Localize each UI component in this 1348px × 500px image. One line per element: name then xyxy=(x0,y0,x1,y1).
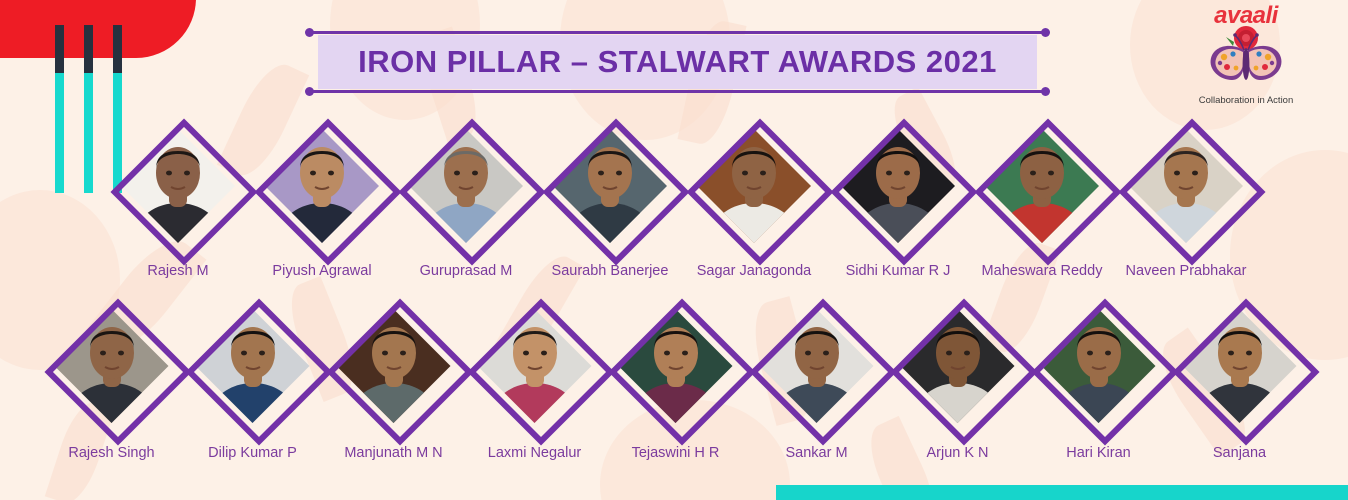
awardee-avatar xyxy=(1175,301,1305,431)
diamond-frame xyxy=(1031,298,1178,445)
awardee-card: Sidhi Kumar R J xyxy=(826,121,970,279)
logo-wordmark: avaali xyxy=(1176,4,1316,28)
awards-poster: IRON PILLAR – STALWART AWARDS 2021 avaal… xyxy=(0,0,1348,500)
awardee-avatar xyxy=(893,301,1023,431)
awardee-avatar xyxy=(611,301,741,431)
awardee-avatar xyxy=(113,121,243,251)
diamond-frame xyxy=(110,118,257,265)
awardee-avatar xyxy=(977,121,1107,251)
awardee-card: Naveen Prabhakar xyxy=(1114,121,1258,279)
awardee-name: Rajesh Singh xyxy=(68,445,154,461)
bottom-accent-bar xyxy=(776,485,1348,500)
awardee-card: Maheswara Reddy xyxy=(970,121,1114,279)
awardee-avatar xyxy=(1121,121,1251,251)
awardee-card: Piyush Agrawal xyxy=(250,121,394,279)
awardee-avatar xyxy=(47,301,177,431)
awardee-card: Rajesh Singh xyxy=(41,301,182,461)
butterfly-rose-logo-icon xyxy=(1200,24,1292,94)
awardee-card: Rajesh M xyxy=(106,121,250,279)
diamond-frame xyxy=(326,298,473,445)
awardee-card: Tejaswini H R xyxy=(605,301,746,461)
diamond-frame xyxy=(185,298,332,445)
awardee-name: Tejaswini H R xyxy=(632,445,720,461)
diamond-frame xyxy=(608,298,755,445)
awardee-name: Guruprasad M xyxy=(420,263,513,279)
awardee-card: Sanjana xyxy=(1169,301,1310,461)
awardee-name: Dilip Kumar P xyxy=(208,445,297,461)
awardee-card: Manjunath M N xyxy=(323,301,464,461)
awardee-card: Guruprasad M xyxy=(394,121,538,279)
awardee-name: Rajesh M xyxy=(147,263,208,279)
awardee-avatar xyxy=(188,301,318,431)
awardee-name: Sidhi Kumar R J xyxy=(846,263,951,279)
red-corner-shape xyxy=(0,0,196,58)
awardee-card: Saurabh Banerjee xyxy=(538,121,682,279)
awardee-avatar xyxy=(1034,301,1164,431)
awardee-card: Hari Kiran xyxy=(1028,301,1169,461)
awardee-card: Sagar Janagonda xyxy=(682,121,826,279)
accent-bar-dark xyxy=(84,25,93,73)
diamond-frame xyxy=(686,118,833,265)
awardee-name: Laxmi Negalur xyxy=(488,445,582,461)
diamond-frame xyxy=(749,298,896,445)
diamond-frame xyxy=(542,118,689,265)
awardee-avatar xyxy=(257,121,387,251)
accent-bar-cyan xyxy=(84,73,93,193)
awardee-name: Naveen Prabhakar xyxy=(1126,263,1247,279)
accent-bar-dark xyxy=(113,25,122,73)
awardee-name: Saurabh Banerjee xyxy=(552,263,669,279)
page-title: IRON PILLAR – STALWART AWARDS 2021 xyxy=(305,31,1050,93)
company-logo: avaali xyxy=(1176,4,1316,122)
awardee-name: Hari Kiran xyxy=(1066,445,1130,461)
logo-tagline: Collaboration in Action xyxy=(1176,95,1316,106)
diamond-frame xyxy=(398,118,545,265)
awardee-name: Sagar Janagonda xyxy=(697,263,812,279)
awardee-name: Sankar M xyxy=(785,445,847,461)
awardee-avatar xyxy=(470,301,600,431)
title-banner: IRON PILLAR – STALWART AWARDS 2021 xyxy=(305,31,1050,93)
diamond-frame xyxy=(1172,298,1319,445)
awardee-card: Arjun K N xyxy=(887,301,1028,461)
awardee-row-1: Rajesh MPiyush AgrawalGuruprasad MSaurab… xyxy=(106,121,1258,279)
awardee-name: Manjunath M N xyxy=(344,445,442,461)
awardee-card: Dilip Kumar P xyxy=(182,301,323,461)
awardee-avatar xyxy=(752,301,882,431)
accent-bar-cyan xyxy=(55,73,64,193)
diamond-frame xyxy=(974,118,1121,265)
awardee-card: Laxmi Negalur xyxy=(464,301,605,461)
diamond-frame xyxy=(830,118,977,265)
awardee-name: Sanjana xyxy=(1213,445,1266,461)
awardee-avatar xyxy=(401,121,531,251)
accent-bar-dark xyxy=(55,25,64,73)
awardee-avatar xyxy=(833,121,963,251)
awardee-name: Piyush Agrawal xyxy=(272,263,371,279)
awardee-avatar xyxy=(689,121,819,251)
diamond-frame xyxy=(467,298,614,445)
awardee-avatar xyxy=(329,301,459,431)
diamond-frame xyxy=(890,298,1037,445)
awardee-name: Arjun K N xyxy=(926,445,988,461)
awardee-card: Sankar M xyxy=(746,301,887,461)
diamond-frame xyxy=(44,298,191,445)
awardee-name: Maheswara Reddy xyxy=(982,263,1103,279)
diamond-frame xyxy=(1118,118,1265,265)
awardee-avatar xyxy=(545,121,675,251)
diamond-frame xyxy=(254,118,401,265)
awardee-row-2: Rajesh SinghDilip Kumar PManjunath M NLa… xyxy=(41,301,1310,461)
